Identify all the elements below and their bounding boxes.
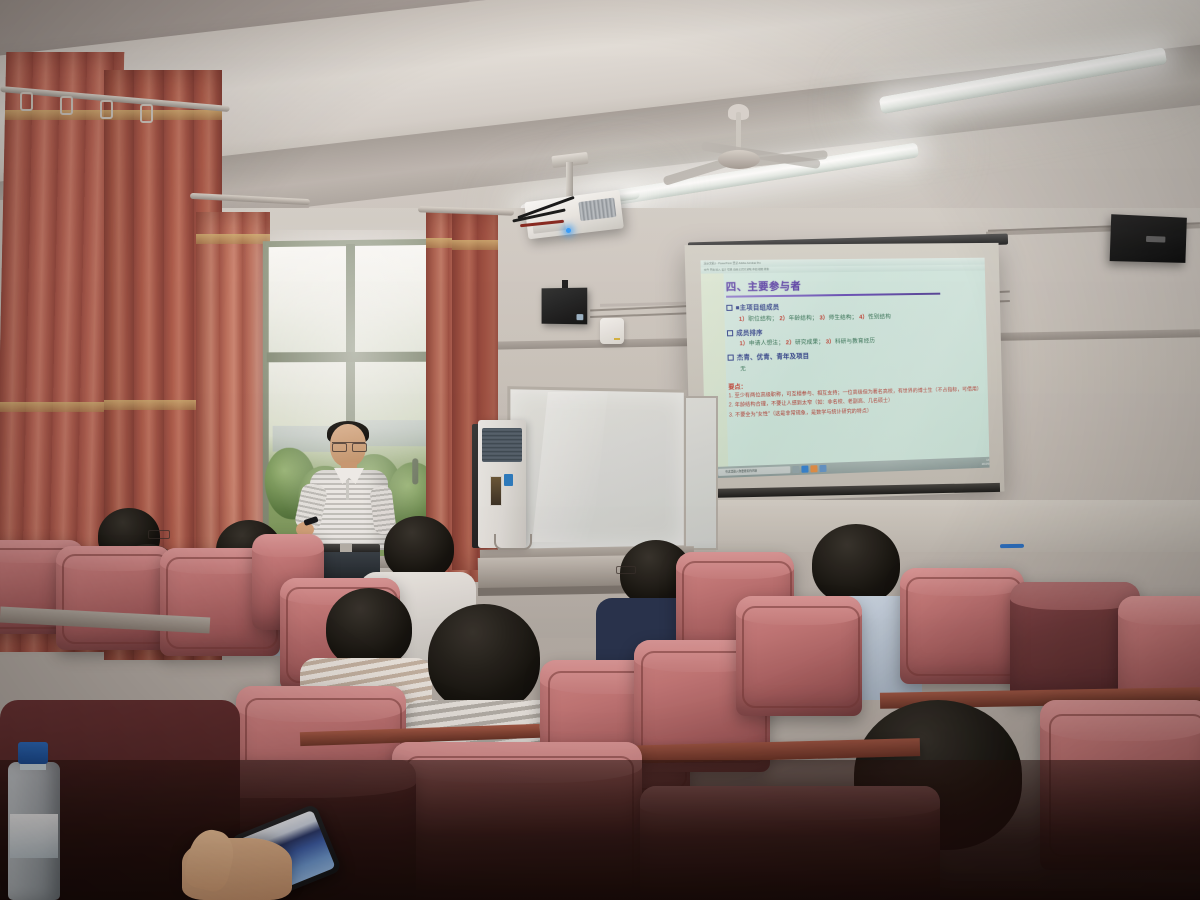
wall-lower-band-right (716, 500, 1200, 552)
water-bottle[interactable] (8, 762, 60, 900)
bullet-box-icon (727, 330, 733, 336)
attendee-head (428, 604, 540, 712)
slide-content: 四、主要参与者 ■主项目组成员 1）职位结构； 2）年龄结构； 3）师生结构； … (726, 275, 986, 471)
seat[interactable] (736, 596, 862, 716)
seat[interactable] (56, 546, 172, 650)
glasses-icon (332, 442, 365, 450)
folder-icon[interactable] (810, 465, 817, 472)
window-pane (269, 246, 346, 352)
slide-title: 四、主要参与者 (726, 275, 982, 293)
foreground-shadow (0, 760, 1200, 900)
air-conditioner[interactable] (478, 420, 526, 548)
seat[interactable] (900, 568, 1024, 684)
attendee-head (384, 516, 454, 580)
window-mullion-horizontal (267, 352, 437, 363)
bullet-box-icon (726, 305, 732, 311)
projection-screen: 演示文稿1 - PowerPoint 登录 Adobe Acrobat Pro … (685, 243, 1005, 505)
clock-date: 2019/9/21 (982, 462, 990, 465)
whiteboard-right-section (684, 396, 718, 550)
glasses-icon (148, 530, 170, 539)
bottle-label (10, 814, 58, 858)
wireless-access-point (600, 318, 624, 344)
slide-title-underline (726, 293, 940, 298)
window-pane (354, 245, 434, 352)
air-conditioner-hose (494, 534, 532, 550)
whiteboard (507, 386, 686, 552)
projector-vent (578, 198, 616, 222)
speaker-badge (576, 314, 583, 320)
slide-bullet-sub-items: 1）申请人想法； 2）研究成果； 3）科研与教育经历 (739, 334, 982, 347)
taskbar-search-input[interactable]: 在这里输入你要搜索的内容 (718, 466, 790, 476)
wall-speaker-left (542, 288, 588, 325)
whiteboard-marker[interactable] (1000, 544, 1024, 548)
speaker-logo (1146, 236, 1165, 243)
bottle-cap[interactable] (18, 742, 48, 764)
bullet-box-icon (728, 355, 734, 361)
attendee-head (326, 588, 412, 668)
wifi-led (614, 338, 620, 340)
lecture-hall-photo: 演示文稿1 - PowerPoint 登录 Adobe Acrobat Pro … (0, 0, 1200, 900)
curtain-ring (100, 100, 113, 119)
air-conditioner-grille (482, 428, 522, 462)
window-icon[interactable] (819, 465, 826, 472)
ceiling-fan-hub (718, 150, 760, 169)
edge-icon[interactable] (801, 466, 808, 473)
slide-bullet-sub-items: 1）职位结构； 2）年龄结构； 3）师生结构； 4）性别结构 (739, 310, 982, 322)
task-view-icon[interactable] (792, 466, 799, 473)
air-conditioner-control-panel[interactable] (490, 476, 502, 506)
attendee-head (812, 524, 900, 604)
curtain-ring (60, 96, 73, 115)
presentation-slide: 演示文稿1 - PowerPoint 登录 Adobe Acrobat Pro … (700, 258, 989, 479)
presenter-placket (346, 480, 349, 500)
glasses-icon (616, 566, 636, 574)
air-conditioner-energy-label (504, 474, 513, 486)
taskbar-clock[interactable]: 13:45 2019/9/21 (982, 459, 990, 466)
window-handle[interactable] (412, 458, 418, 484)
curtain-ring (140, 104, 153, 123)
curtain-ring (20, 92, 33, 111)
projector-status-led (566, 228, 571, 233)
wall-speaker-right (1110, 214, 1187, 263)
